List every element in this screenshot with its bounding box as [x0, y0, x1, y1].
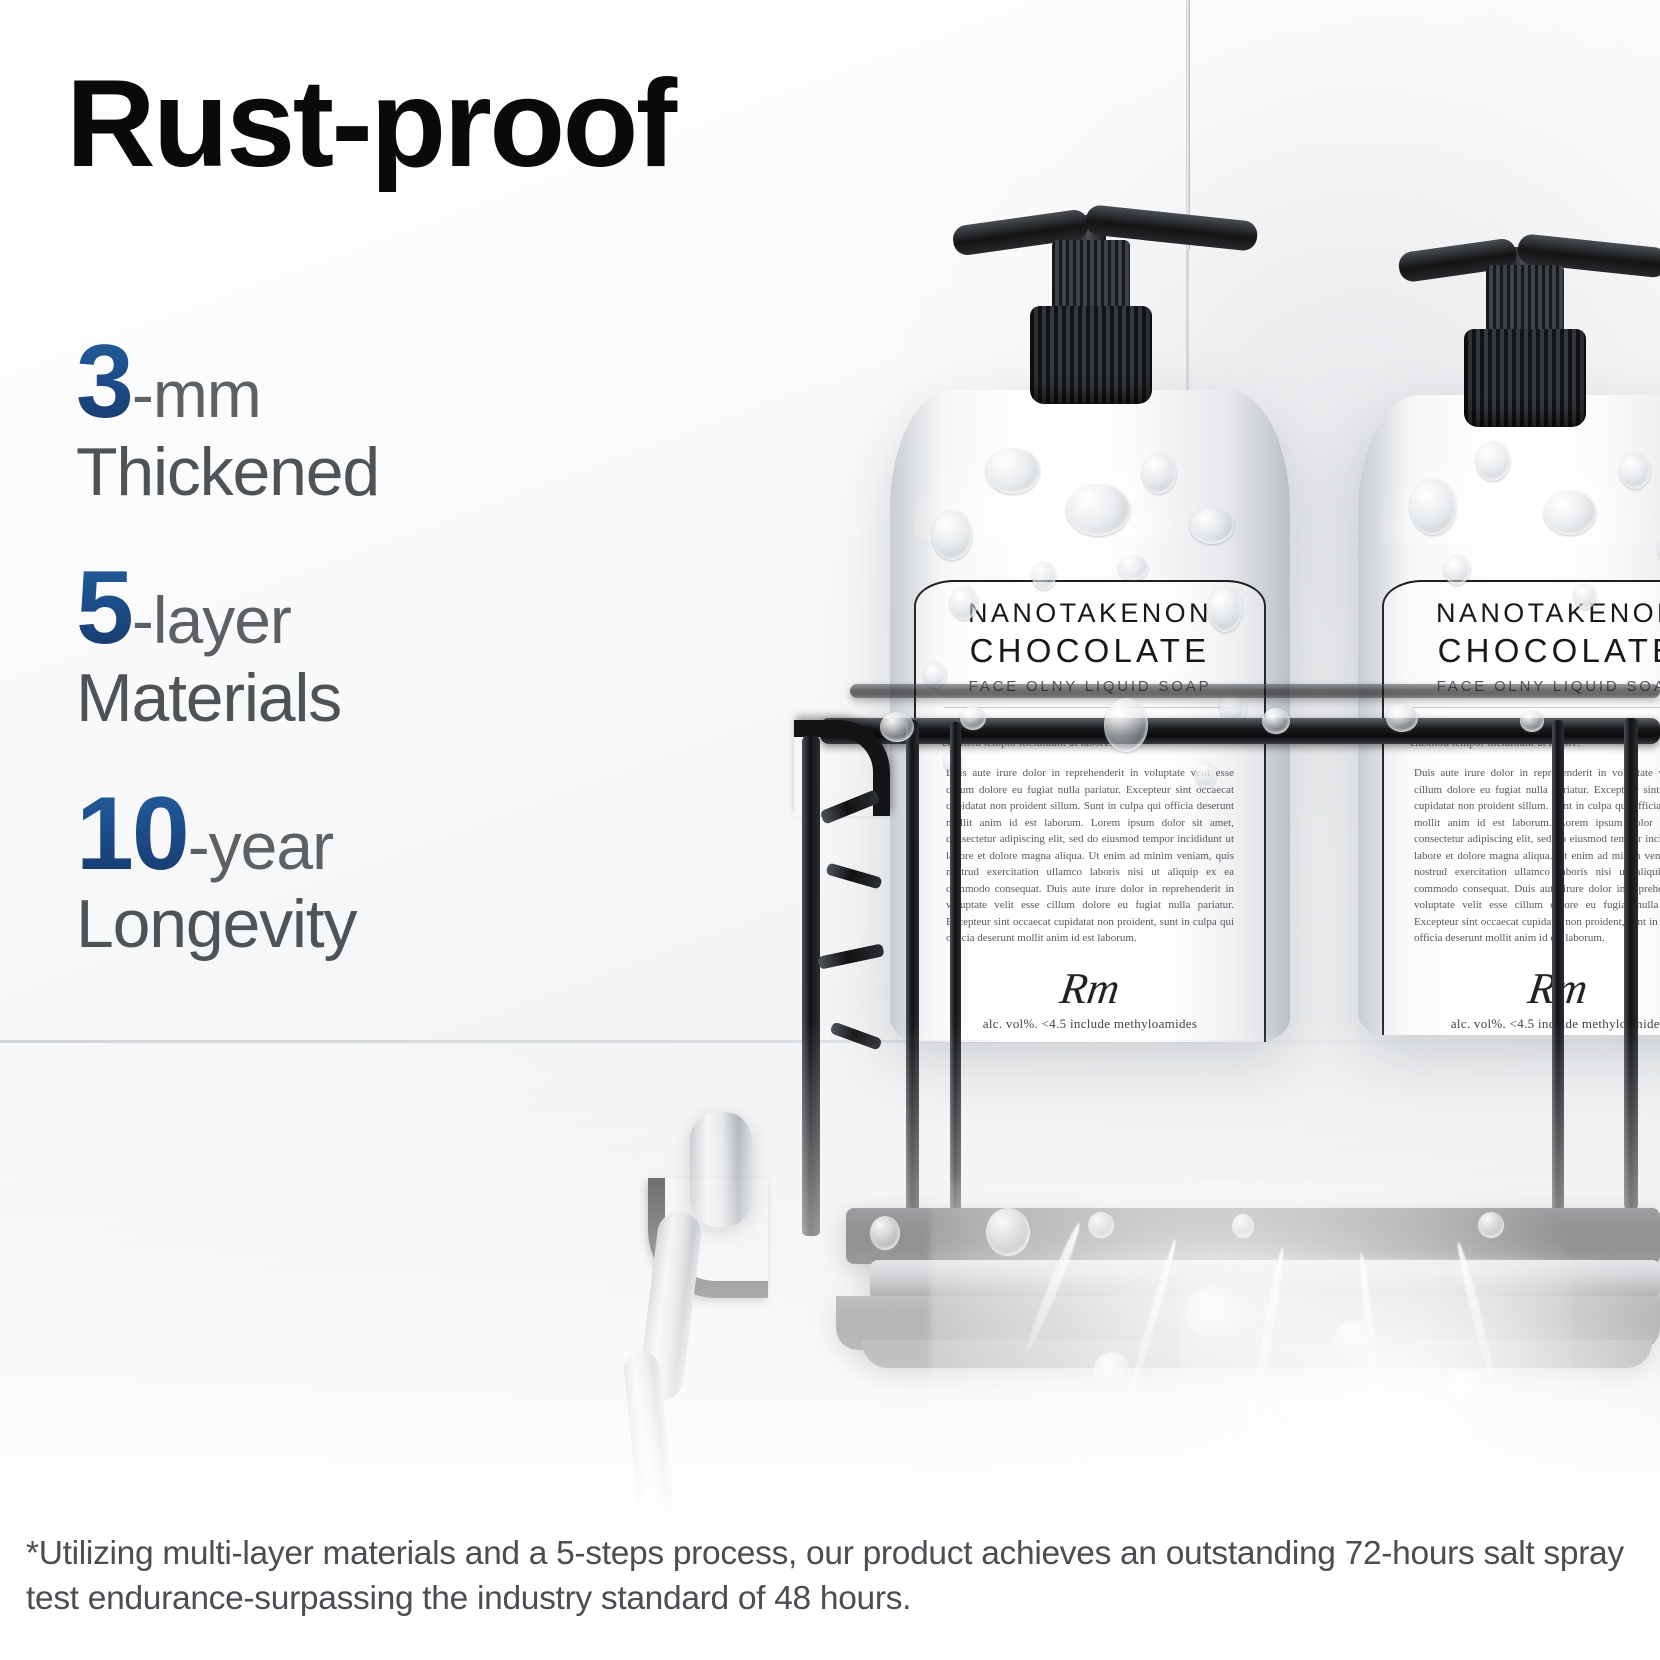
- feature-unit: -layer: [132, 583, 291, 657]
- water-droplet: [1520, 710, 1544, 732]
- feature-headline-row: 10-year: [76, 782, 636, 886]
- feature-subtitle: Longevity: [76, 888, 636, 960]
- footnote-disclaimer: *Utilizing multi-layer materials and a 5…: [26, 1531, 1634, 1622]
- label-brand: NANOTAKENON: [1384, 598, 1660, 629]
- feature-number: 3: [76, 324, 132, 440]
- feature-item-longevity: 10-year Longevity: [76, 782, 636, 960]
- feature-unit: -mm: [132, 357, 261, 431]
- water-droplet: [960, 706, 986, 730]
- water-droplet: [1620, 453, 1650, 489]
- feature-item-layers: 5-layer Materials: [76, 556, 636, 734]
- feature-subtitle: Thickened: [76, 436, 636, 508]
- feature-number: 10: [76, 776, 188, 892]
- water-droplet: [1104, 698, 1148, 752]
- water-droplet: [932, 510, 972, 560]
- water-droplet: [1544, 491, 1596, 535]
- water-droplet: [1066, 484, 1130, 536]
- water-droplet: [880, 712, 914, 742]
- caddy-wire: [825, 863, 882, 890]
- water-droplet: [950, 586, 978, 620]
- water-droplet: [1574, 583, 1596, 609]
- water-droplet: [1118, 556, 1148, 580]
- water-droplet: [1142, 452, 1176, 494]
- water-droplet: [1208, 586, 1242, 632]
- pump-neck: [1052, 240, 1130, 312]
- caddy-top-rail-rear: [850, 684, 1660, 698]
- feature-headline-row: 5-layer: [76, 556, 636, 660]
- water-droplet: [1386, 704, 1418, 732]
- feature-item-thickness: 3-mm Thickened: [76, 330, 636, 508]
- pump-neck: [1486, 265, 1564, 337]
- feature-number: 5: [76, 550, 132, 666]
- water-droplet: [1190, 508, 1234, 544]
- feature-headline-row: 3-mm: [76, 330, 636, 434]
- hanging-rod: [1186, 0, 1190, 250]
- feature-list: 3-mm Thickened 5-layer Materials 10-year…: [76, 330, 636, 1008]
- feature-unit: -year: [188, 809, 333, 883]
- water-droplet: [1444, 555, 1470, 585]
- water-droplet: [1410, 479, 1456, 535]
- water-droplet: [1262, 708, 1290, 734]
- pump-collar: [1464, 329, 1586, 427]
- water-droplet: [1032, 562, 1056, 590]
- water-droplet: [1476, 441, 1510, 481]
- feature-subtitle: Materials: [76, 662, 636, 734]
- pump-collar: [1030, 306, 1152, 404]
- water-droplet: [986, 448, 1040, 494]
- page-title: Rust-proof: [66, 62, 675, 186]
- caddy-wire: [817, 943, 884, 969]
